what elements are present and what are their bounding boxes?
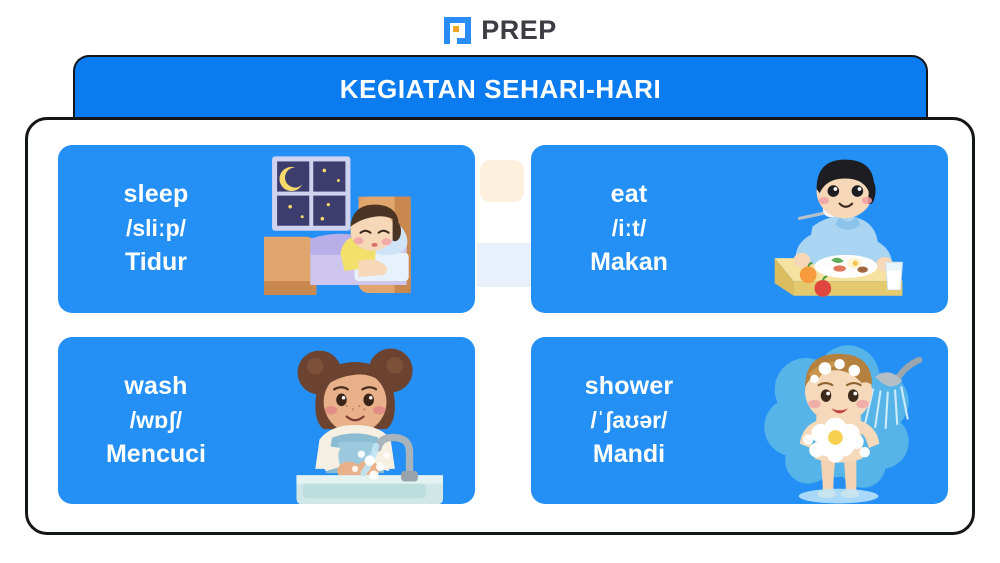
word-translation: Makan [590,248,668,277]
illustration-sleeping-boy [254,145,475,313]
vocab-card-wash[interactable]: wash /wɒʃ/ Mencuci [58,337,475,505]
page-title: KEGIATAN SEHARI-HARI [340,74,662,105]
vocab-card-sleep[interactable]: sleep /sliːp/ Tidur [58,145,475,313]
word-english: sleep [124,180,189,209]
prep-logo-icon [443,16,472,45]
word-english: shower [585,372,674,401]
brand-header: PREP [0,10,1000,50]
word-english: wash [124,372,187,401]
vocab-text-eat: eat /iːt/ Makan [531,180,727,277]
illustration-boy-eating [727,145,948,313]
vocab-text-sleep: sleep /sliːp/ Tidur [58,180,254,277]
word-ipa: /sliːp/ [126,215,186,242]
decoration-blue-rect [477,243,531,287]
vocab-card-shower[interactable]: shower /ˈʃaʊər/ Mandi [531,337,948,505]
illustration-child-showering [727,337,948,505]
word-translation: Mandi [593,440,665,469]
vocab-card-eat[interactable]: eat /iːt/ Makan [531,145,948,313]
vocab-text-shower: shower /ˈʃaʊər/ Mandi [531,372,727,469]
word-translation: Mencuci [106,440,206,469]
word-ipa: /wɒʃ/ [130,407,182,434]
decoration-cream-square [480,160,524,202]
word-ipa: /ˈʃaʊər/ [591,407,668,434]
title-banner: KEGIATAN SEHARI-HARI [73,55,928,121]
illustration-girl-washing-hands [254,337,475,505]
vocab-text-wash: wash /wɒʃ/ Mencuci [58,372,254,469]
word-ipa: /iːt/ [612,215,647,242]
word-translation: Tidur [125,248,187,277]
brand-name: PREP [481,17,557,44]
word-english: eat [611,180,648,209]
poster-page: PREP PREP KEGIATAN SEHARI-HARI sleep /sl… [0,0,1000,563]
